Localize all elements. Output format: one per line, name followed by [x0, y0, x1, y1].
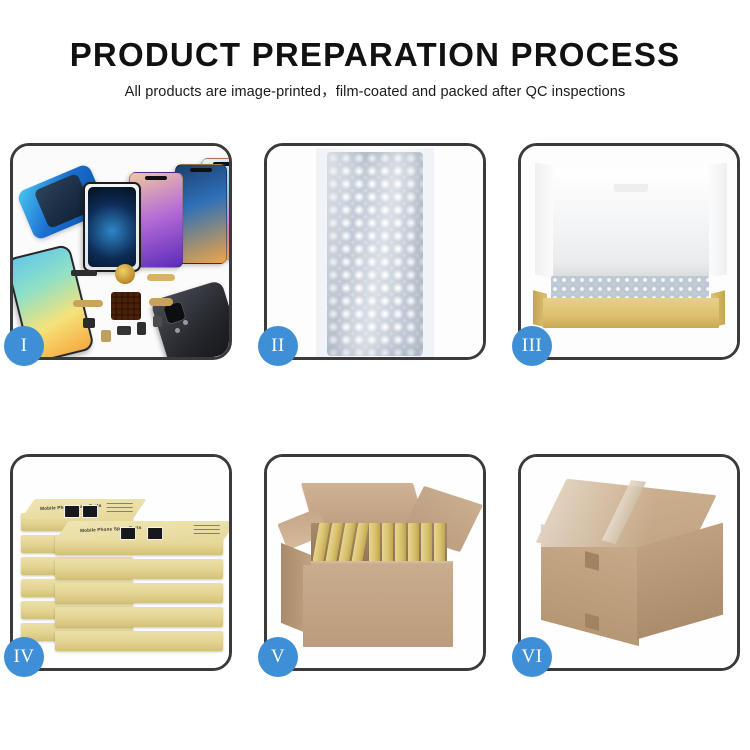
part-flex-cable-icon: [149, 298, 173, 306]
page-subtitle: All products are image-printed，film-coat…: [0, 74, 750, 101]
step-1-image: [13, 146, 229, 357]
part-connector-icon: [137, 322, 146, 335]
page-header: PRODUCT PREPARATION PROCESS All products…: [0, 0, 750, 101]
part-screw-icon: [183, 320, 188, 325]
process-row-1: I II III: [10, 143, 740, 360]
step-badge-3: III: [512, 326, 552, 366]
kraft-box-front-icon: [543, 298, 719, 328]
step-badge-4: IV: [4, 637, 44, 677]
step-badge-6: VI: [512, 637, 552, 677]
retail-box-icon: [55, 607, 223, 627]
notch-icon: [145, 176, 167, 180]
sealed-carton-icon: [537, 479, 729, 655]
step-2-image: [267, 146, 483, 357]
box-tab-icon: [614, 184, 648, 192]
step-panel-3[interactable]: III: [518, 143, 740, 360]
part-camera-icon: [153, 316, 162, 327]
retail-box-top-icon: Mobile Phone Spare Parts: [55, 535, 223, 555]
step-4-image: Mobile Phone Spare Parts Mobile Phone: [13, 457, 229, 668]
phone-screen-fan: [83, 158, 228, 268]
step-panel-1[interactable]: I: [10, 143, 232, 360]
box-screen-graphic: [82, 505, 98, 518]
bubble-wrap-sheen: [327, 152, 423, 356]
retail-box-icon: [55, 583, 223, 603]
process-row-2: Mobile Phone Spare Parts Mobile Phone: [10, 454, 740, 671]
part-connector-icon: [83, 318, 95, 328]
step-badge-5: V: [258, 637, 298, 677]
stacked-boxes-group: Mobile Phone Spare Parts Mobile Phone: [19, 473, 229, 663]
part-flex-cable-icon: [73, 300, 103, 307]
spare-parts-group: [71, 264, 191, 356]
carton-front-face: [303, 565, 453, 647]
part-speaker-icon: [71, 270, 97, 276]
part-screw-icon: [175, 328, 180, 333]
step-5-image: [267, 457, 483, 668]
box-screen-graphic: [147, 527, 163, 540]
open-carton-icon: [281, 483, 477, 653]
retail-box-icon: [55, 631, 223, 651]
part-chip-icon: [111, 292, 141, 320]
notch-icon: [190, 168, 212, 172]
step-panel-6[interactable]: VI: [518, 454, 740, 671]
step-3-image: [521, 146, 737, 357]
retail-box-icon: [55, 559, 223, 579]
part-connector-icon: [117, 326, 131, 335]
step-badge-1: I: [4, 326, 44, 366]
page-title: PRODUCT PREPARATION PROCESS: [0, 0, 750, 74]
part-coil-icon: [115, 264, 135, 284]
box-screen-graphic: [121, 527, 137, 540]
part-connector-icon: [101, 330, 111, 342]
carton-handle-notch: [585, 551, 599, 571]
step-badge-2: II: [258, 326, 298, 366]
box-lid-face: Mobile Phone Spare Parts: [21, 499, 146, 519]
step-panel-2[interactable]: II: [264, 143, 486, 360]
box-screen-graphic: [64, 505, 80, 518]
box-spec-lines: [194, 525, 220, 537]
part-flex-cable-icon: [147, 274, 175, 281]
box-spec-lines: [107, 503, 133, 515]
box-lid-face: Mobile Phone Spare Parts: [55, 521, 229, 541]
phone-screen-icon: [83, 182, 141, 272]
inner-box-lid-icon: [545, 168, 717, 276]
step-panel-4[interactable]: Mobile Phone Spare Parts Mobile Phone: [10, 454, 232, 671]
step-panel-5[interactable]: V: [264, 454, 486, 671]
process-steps-grid: I II III: [10, 143, 740, 671]
step-6-image: [521, 457, 737, 668]
screen-glass: [88, 187, 136, 267]
